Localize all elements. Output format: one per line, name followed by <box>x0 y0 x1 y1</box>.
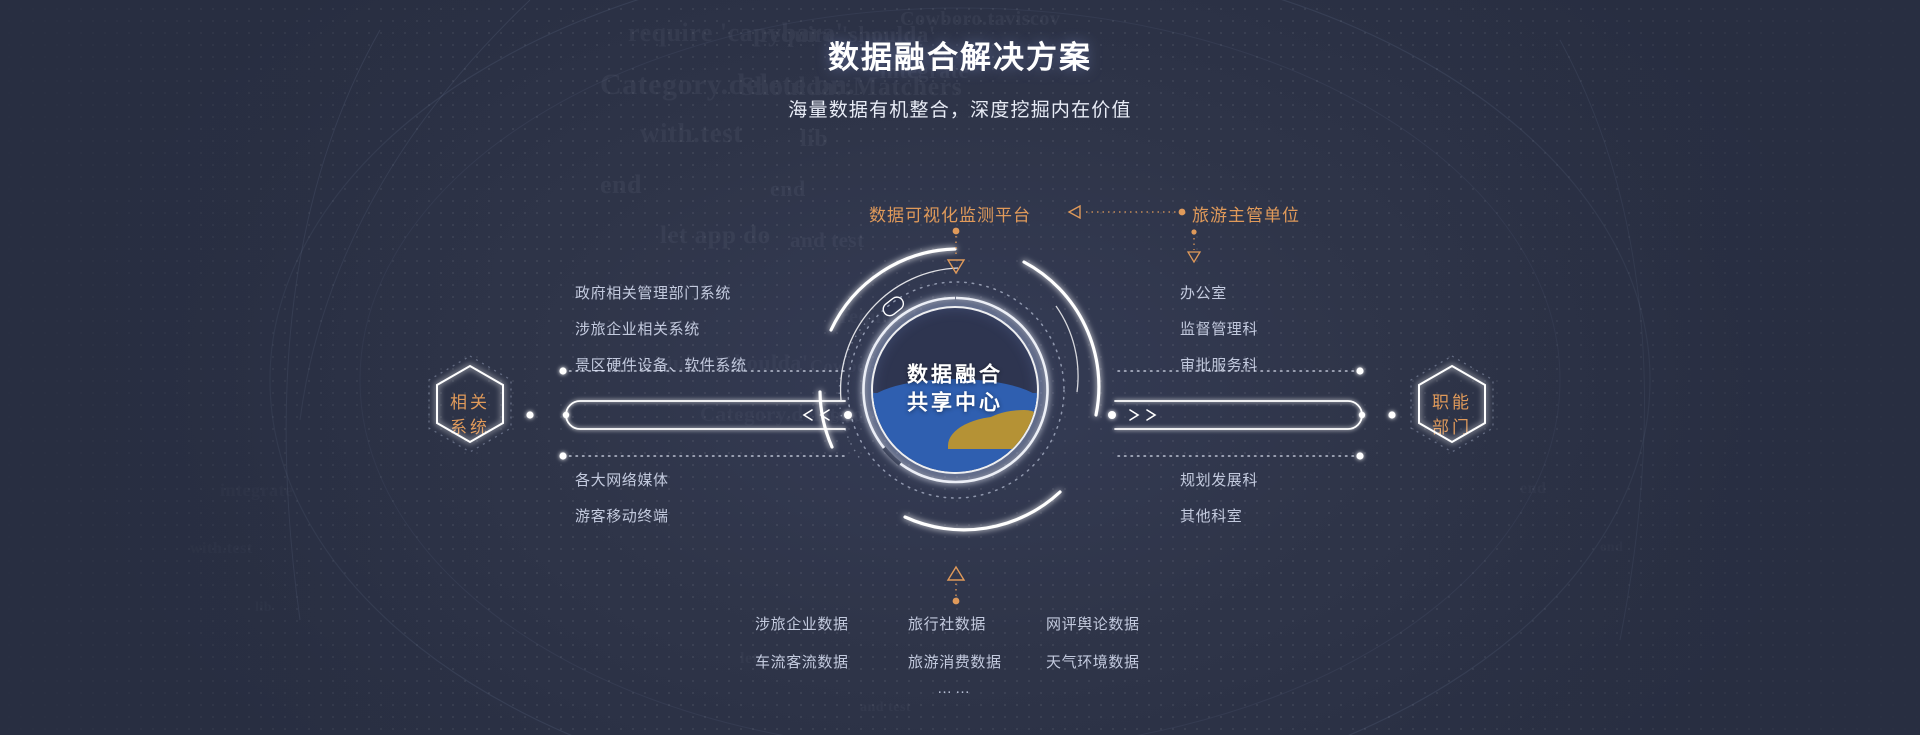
bottom-orange-up-connector <box>948 567 964 604</box>
page-subtitle: 海量数据有机整合，深度挖掘内在价值 <box>0 95 1920 122</box>
center-core[interactable]: 数据融合 共享中心 <box>810 245 1100 535</box>
core-label-line1: 数据融合 <box>907 362 1003 390</box>
core-label-line2: 共享中心 <box>907 390 1003 418</box>
right-orange-down-connector <box>1188 229 1200 262</box>
left-connectors <box>526 367 852 459</box>
core-label: 数据融合 共享中心 <box>907 362 1003 419</box>
header: 数据融合解决方案 海量数据有机整合，深度挖掘内在价值 <box>0 32 1920 122</box>
page-title: 数据融合解决方案 <box>0 32 1920 77</box>
right-connectors <box>1108 367 1396 459</box>
top-orange-connector <box>1069 206 1185 218</box>
left-hexagon-shape <box>429 356 511 452</box>
right-hexagon-shape <box>1411 356 1493 452</box>
